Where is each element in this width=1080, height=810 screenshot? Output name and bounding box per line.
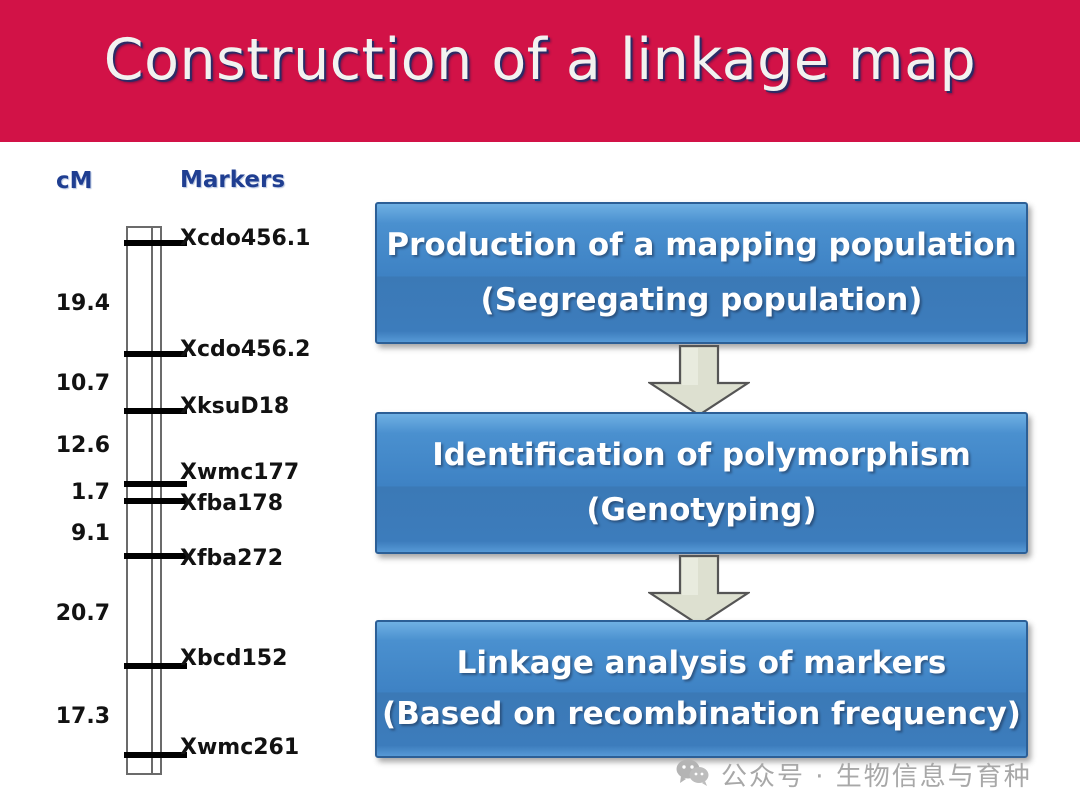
marker-tick <box>124 498 187 504</box>
marker-tick <box>124 663 187 669</box>
distance-label: 17.3 <box>36 704 110 729</box>
marker-tick <box>124 553 187 559</box>
flow-step-line-2: (Segregating population) <box>481 284 923 317</box>
workflow-flowchart: Production of a mapping population (Segr… <box>370 142 1080 810</box>
flow-step-line-1: Production of a mapping population <box>386 229 1016 262</box>
marker-tick <box>124 481 187 487</box>
marker-label: Xcdo456.2 <box>180 337 310 362</box>
watermark-text: 公众号 · 生物信息与育种 <box>721 756 1032 793</box>
marker-label: Xbcd152 <box>180 646 287 671</box>
linkage-map-diagram: cM Markers Xcdo456.1Xcdo456.2XksuD18Xwmc… <box>0 142 370 810</box>
flow-step-identification[interactable]: Identification of polymorphism (Genotypi… <box>375 412 1028 554</box>
marker-label: XksuD18 <box>180 394 289 419</box>
distance-label: 19.4 <box>36 291 110 316</box>
flow-step-line-2: (Genotyping) <box>586 494 816 527</box>
flow-step-line-1: Linkage analysis of markers <box>457 647 947 680</box>
marker-label: Xwmc261 <box>180 735 299 760</box>
page-title: Construction of a linkage map <box>0 27 1080 93</box>
distance-label: 20.7 <box>36 601 110 626</box>
distance-label: 10.7 <box>36 371 110 396</box>
flow-step-line-2: (Based on recombination frequency) <box>382 698 1021 731</box>
watermark: 公众号 · 生物信息与育种 <box>676 756 1032 793</box>
arrow-down-icon <box>648 555 750 627</box>
arrow-down-icon <box>648 345 750 417</box>
flow-step-production[interactable]: Production of a mapping population (Segr… <box>375 202 1028 344</box>
marker-label: Xfba178 <box>180 491 283 516</box>
marker-tick <box>124 240 187 246</box>
wechat-icon <box>676 758 710 791</box>
marker-tick <box>124 408 187 414</box>
marker-label: Xcdo456.1 <box>180 226 310 251</box>
marker-tick <box>124 351 187 357</box>
flow-step-line-1: Identification of polymorphism <box>432 439 971 472</box>
distance-label: 9.1 <box>36 521 110 546</box>
marker-label: Xwmc177 <box>180 460 299 485</box>
flow-step-linkage-analysis[interactable]: Linkage analysis of markers (Based on re… <box>375 620 1028 758</box>
distance-label: 12.6 <box>36 433 110 458</box>
marker-label: Xfba272 <box>180 546 283 571</box>
marker-tick <box>124 752 187 758</box>
title-banner: Construction of a linkage map <box>0 0 1080 142</box>
distance-label: 1.7 <box>36 480 110 505</box>
cm-axis-header: cM <box>56 168 93 194</box>
markers-column-header: Markers <box>180 167 285 193</box>
